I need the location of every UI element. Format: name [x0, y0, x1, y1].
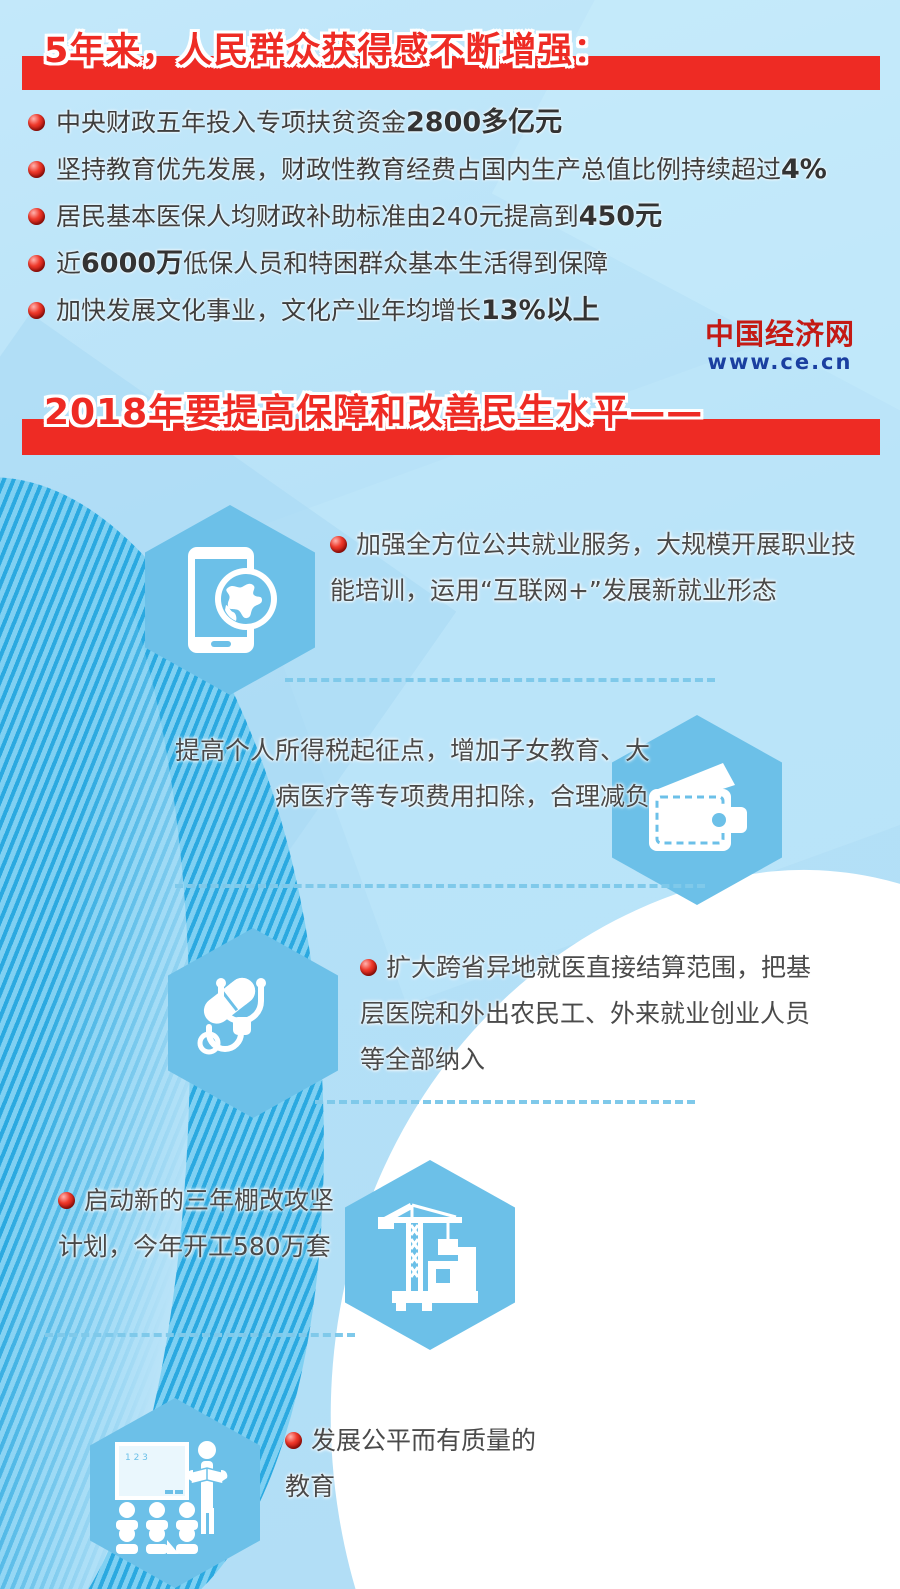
red-bullet-icon — [360, 959, 377, 976]
svg-text:1 2 3: 1 2 3 — [125, 1453, 148, 1463]
achievement-list: 中央财政五年投入专项扶贫资金2800多亿元 坚持教育优先发展，财政性教育经费占国… — [28, 103, 888, 338]
logo-name: 中国经济网 — [690, 318, 870, 350]
achievement-text: 中央财政五年投入专项扶贫资金2800多亿元 — [56, 103, 562, 142]
top-banner: 5年来，人民群众获得感不断增强： — [22, 24, 880, 90]
section-employment-text: 加强全方位公共就业服务，大规模开展职业技能培训，运用“互联网+”发展新就业形态 — [330, 522, 870, 614]
mobile-globe-icon — [145, 505, 315, 695]
section-education-text: 发展公平而有质量的教育 — [285, 1418, 545, 1510]
list-item: 近6000万低保人员和特困群众基本生活得到保障 — [28, 244, 888, 291]
red-bullet-icon — [28, 114, 45, 131]
red-bullet-icon — [28, 208, 45, 225]
infographic-page: 5年来，人民群众获得感不断增强： 中央财政五年投入专项扶贫资金2800多亿元 坚… — [0, 0, 900, 1589]
red-bullet-icon — [330, 536, 347, 553]
section-tax-text: 提高个人所得税起征点，增加子女教育、大病医疗等专项费用扣除，合理减负 — [160, 728, 650, 820]
achievement-text: 居民基本医保人均财政补助标准由240元提高到450元 — [56, 197, 662, 236]
section-divider — [175, 884, 705, 888]
red-bullet-icon — [28, 255, 45, 272]
list-item: 坚持教育优先发展，财政性教育经费占国内生产总值比例持续超过4% — [28, 150, 888, 197]
section-divider — [285, 678, 715, 682]
achievement-text: 加快发展文化事业，文化产业年均增长13%以上 — [56, 291, 600, 330]
second-banner-title: 2018年要提高保障和改善民生水平—— — [44, 383, 703, 435]
section-divider — [315, 1100, 695, 1104]
red-bullet-icon — [28, 302, 45, 319]
site-logo[interactable]: 中国经济网 www.ce.cn — [690, 318, 870, 374]
red-bullet-icon — [28, 161, 45, 178]
list-item: 居民基本医保人均财政补助标准由240元提高到450元 — [28, 197, 888, 244]
section-housing-text: 启动新的三年棚改攻坚计划，今年开工580万套 — [58, 1178, 358, 1270]
second-banner: 2018年要提高保障和改善民生水平—— — [22, 383, 880, 455]
medical-stethoscope-icon — [168, 928, 338, 1118]
red-bullet-icon — [285, 1432, 302, 1449]
red-bullet-icon — [58, 1192, 75, 1209]
achievement-text: 坚持教育优先发展，财政性教育经费占国内生产总值比例持续超过4% — [56, 150, 827, 189]
logo-url: www.ce.cn — [690, 350, 870, 374]
section-medical-text: 扩大跨省异地就医直接结算范围，把基层医院和外出农民工、外来就业创业人员等全部纳入 — [360, 945, 820, 1083]
top-banner-title: 5年来，人民群众获得感不断增强： — [44, 22, 609, 73]
construction-crane-icon — [345, 1160, 515, 1350]
section-divider — [45, 1333, 355, 1337]
classroom-education-icon: 1 2 3 — [90, 1398, 260, 1588]
achievement-text: 近6000万低保人员和特困群众基本生活得到保障 — [56, 244, 608, 283]
list-item: 中央财政五年投入专项扶贫资金2800多亿元 — [28, 103, 888, 150]
